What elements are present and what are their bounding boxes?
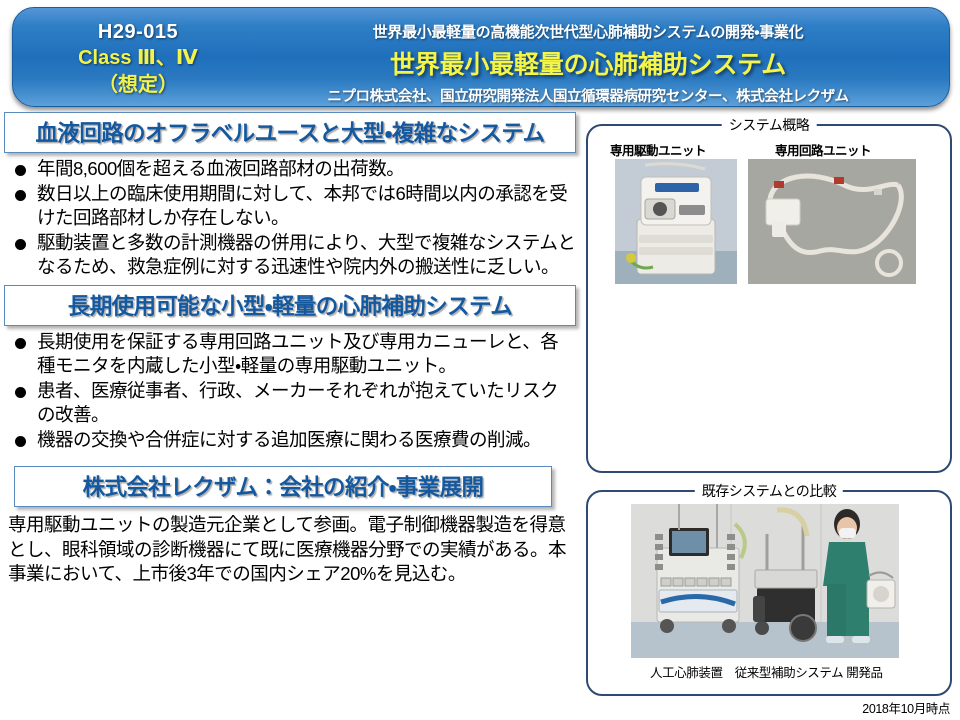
photo-label-circuit-unit: 専用回路ユニット <box>775 140 871 159</box>
header-organizations: ニプロ株式会社、国立研究開発法人国立循環器病研究センター、株式会社レクザム <box>238 85 938 106</box>
list-item: 数日以上の臨床使用期間に対して、本邦では6時間以内の承認を受けた回路部材しか存在… <box>4 182 576 230</box>
circuit-unit-illustration <box>748 159 916 284</box>
photo-label-drive-unit: 専用駆動ユニット <box>610 140 706 159</box>
slide-root: H29-015 Class Ⅲ、Ⅳ （想定） 世界最小最軽量の高機能次世代型心肺… <box>0 0 960 720</box>
photo-comparison <box>631 504 899 658</box>
device-class-line1: Class Ⅲ、Ⅳ <box>43 45 233 71</box>
photo-circuit-unit <box>748 159 916 284</box>
photo-drive-unit <box>615 159 737 284</box>
bullet-list-problem: 年間8,600個を超える血液回路部材の出荷数。 数日以上の臨床使用期間に対して、… <box>4 157 576 279</box>
project-code: H29-015 <box>43 19 233 45</box>
section-header-company-label: 株式会社レクザム：会社の紹介・事業展開 <box>19 470 547 502</box>
section-header-solution: 長期使用可能な小型・軽量の心肺補助システム <box>4 285 576 326</box>
comparison-illustration <box>631 504 899 658</box>
footer-timestamp: 2018年10月時点 <box>862 698 950 717</box>
section-header-solution-label: 長期使用可能な小型・軽量の心肺補助システム <box>9 289 571 321</box>
company-paragraph: 専用駆動ユニットの製造元企業として参画。電子制御機器製造を得意とし、眼科領域の診… <box>8 513 572 586</box>
header-code-block: H29-015 Class Ⅲ、Ⅳ （想定） <box>43 19 233 98</box>
panel-system-overview: システム概略 専用駆動ユニット 専用回路ユニット <box>586 124 952 473</box>
header-main-title: 世界最小最軽量の心肺補助システム <box>238 45 938 81</box>
drive-unit-illustration <box>615 159 737 284</box>
photo-comparison-caption: 人工心肺装置 従来型補助システム 開発品 <box>650 662 883 681</box>
header-subtitle: 世界最小最軽量の高機能次世代型心肺補助システムの開発・事業化 <box>238 21 938 42</box>
header-title-block: 世界最小最軽量の高機能次世代型心肺補助システムの開発・事業化 世界最小最軽量の心… <box>238 21 938 106</box>
section-header-problem: 血液回路のオフラベルユースと大型・複雑なシステム <box>4 112 576 153</box>
bullet-list-solution: 長期使用を保証する専用回路ユニット及び専用カニューレと、各種モニタを内蔵した小型… <box>4 330 576 452</box>
device-class-line2: （想定） <box>43 72 233 98</box>
list-item: 駆動装置と多数の計測機器の併用により、大型で複雑なシステムとなるため、救急症例に… <box>4 231 576 279</box>
header-banner: H29-015 Class Ⅲ、Ⅳ （想定） 世界最小最軽量の高機能次世代型心肺… <box>12 7 950 107</box>
left-column: 血液回路のオフラベルユースと大型・複雑なシステム 年間8,600個を超える血液回… <box>4 112 576 586</box>
panel-system-overview-label: システム概略 <box>722 115 817 135</box>
list-item: 長期使用を保証する専用回路ユニット及び専用カニューレと、各種モニタを内蔵した小型… <box>4 330 576 378</box>
list-item: 患者、医療従事者、行政、メーカーそれぞれが抱えていたリスクの改善。 <box>4 379 576 427</box>
section-header-company: 株式会社レクザム：会社の紹介・事業展開 <box>14 466 552 507</box>
panel-comparison: 既存システムとの比較 <box>586 490 952 696</box>
panel-comparison-label: 既存システムとの比較 <box>695 481 843 501</box>
list-item: 年間8,600個を超える血液回路部材の出荷数。 <box>4 157 576 181</box>
section-header-problem-label: 血液回路のオフラベルユースと大型・複雑なシステム <box>9 116 571 148</box>
list-item: 機器の交換や合併症に対する追加医療に関わる医療費の削減。 <box>4 428 576 452</box>
